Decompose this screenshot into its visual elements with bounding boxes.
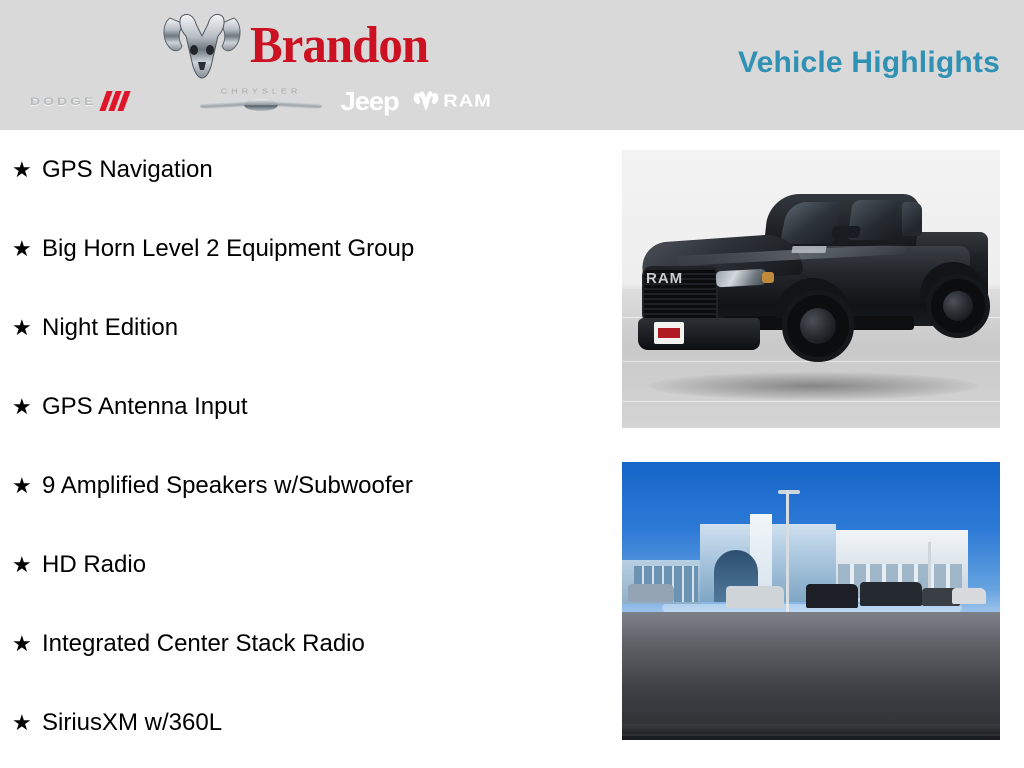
parked-vehicle bbox=[952, 588, 986, 604]
highlight-label: GPS Antenna Input bbox=[42, 393, 248, 421]
parked-vehicle bbox=[806, 584, 858, 608]
ram-logo-icon: RAM bbox=[413, 90, 492, 113]
list-item: ★ Integrated Center Stack Radio bbox=[0, 604, 600, 683]
highlight-label: SiriusXM w/360L bbox=[42, 709, 222, 737]
vehicle-highlights-list: ★ GPS Navigation ★ Big Horn Level 2 Equi… bbox=[0, 130, 600, 762]
highlight-label: Integrated Center Stack Radio bbox=[42, 630, 365, 658]
star-bullet-icon: ★ bbox=[12, 238, 42, 260]
parked-vehicle bbox=[726, 586, 784, 608]
page-title: Vehicle Highlights bbox=[738, 46, 1000, 80]
rear-wheel bbox=[926, 274, 990, 338]
dodge-slashes-icon bbox=[101, 91, 131, 111]
dodge-logo-icon: DODGE bbox=[30, 88, 180, 114]
dealer-name: Brandon bbox=[250, 20, 428, 72]
star-bullet-icon: ★ bbox=[12, 396, 42, 418]
license-plate bbox=[654, 322, 684, 344]
light-pole bbox=[786, 490, 789, 622]
list-item: ★ Night Edition bbox=[0, 288, 600, 367]
chrysler-logo-icon: CHRYSLER bbox=[196, 86, 326, 116]
front-wheel bbox=[782, 290, 854, 362]
chrysler-wordmark: CHRYSLER bbox=[221, 87, 302, 96]
star-bullet-icon: ★ bbox=[12, 159, 42, 181]
star-bullet-icon: ★ bbox=[12, 475, 42, 497]
star-bullet-icon: ★ bbox=[12, 317, 42, 339]
highlight-label: Night Edition bbox=[42, 314, 178, 342]
truck-grille-badge: RAM bbox=[646, 270, 688, 286]
list-item: ★ 9 Amplified Speakers w/Subwoofer bbox=[0, 446, 600, 525]
list-item: ★ GPS Navigation bbox=[0, 130, 600, 209]
star-bullet-icon: ★ bbox=[12, 633, 42, 655]
parked-vehicle bbox=[628, 584, 674, 602]
ram-wordmark: RAM bbox=[443, 91, 492, 112]
list-item: ★ Big Horn Level 2 Equipment Group bbox=[0, 209, 600, 288]
dealership-photo[interactable] bbox=[622, 462, 1000, 740]
star-bullet-icon: ★ bbox=[12, 554, 42, 576]
photo-bottom-edge bbox=[622, 736, 1000, 740]
chrysler-wings-icon bbox=[198, 98, 324, 112]
dealer-primary-logo: Brandon bbox=[160, 10, 440, 82]
parked-vehicle bbox=[860, 582, 922, 606]
dodge-wordmark: DODGE bbox=[30, 95, 96, 108]
ram-head-small-icon bbox=[413, 90, 439, 112]
list-item: ★ SiriusXM w/360L bbox=[0, 683, 600, 762]
parking-lot bbox=[622, 612, 1000, 740]
brand-logo-row: DODGE CHRYSLER Jeep bbox=[30, 84, 540, 118]
list-item: ★ HD Radio bbox=[0, 525, 600, 604]
highlight-label: 9 Amplified Speakers w/Subwoofer bbox=[42, 472, 413, 500]
light-pole-arm bbox=[778, 490, 800, 494]
dealer-logo-lockup: Brandon DODGE CHRYSLER Jeep bbox=[30, 8, 540, 122]
ram-1500-truck: RAM bbox=[636, 170, 988, 396]
ram-head-icon bbox=[160, 10, 244, 82]
highlight-label: GPS Navigation bbox=[42, 156, 213, 184]
highlight-label: Big Horn Level 2 Equipment Group bbox=[42, 235, 414, 263]
jeep-logo-icon: Jeep bbox=[341, 86, 399, 117]
star-bullet-icon: ★ bbox=[12, 712, 42, 734]
page-header: Brandon DODGE CHRYSLER Jeep bbox=[0, 0, 1024, 130]
highlight-label: HD Radio bbox=[42, 551, 146, 579]
vehicle-photo[interactable]: RAM bbox=[622, 150, 1000, 428]
list-item: ★ GPS Antenna Input bbox=[0, 367, 600, 446]
